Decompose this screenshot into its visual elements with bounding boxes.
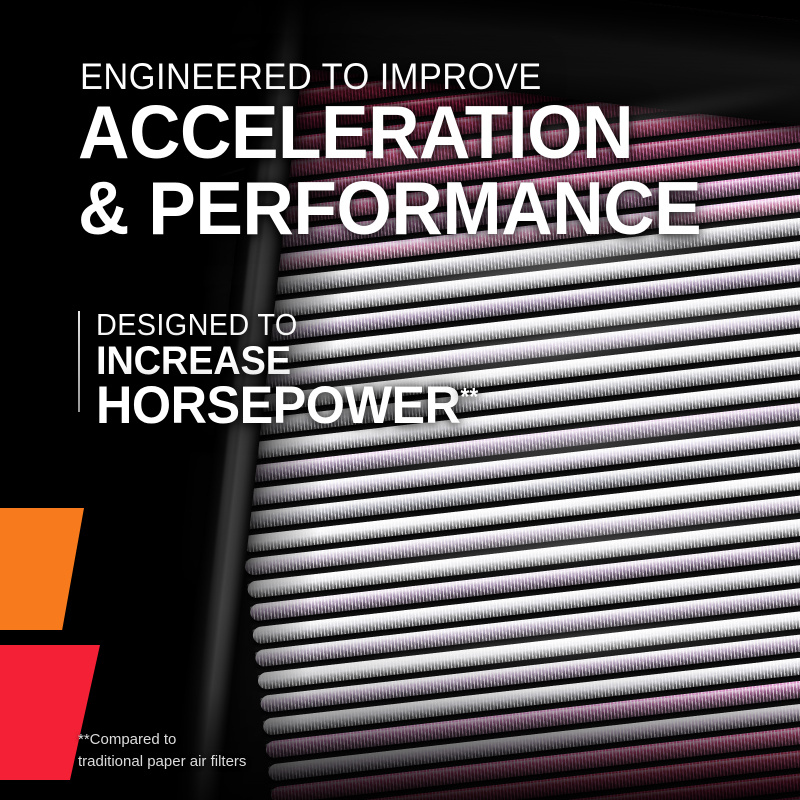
footnote-line-1: **Compared to <box>78 729 246 751</box>
footnote-line-2: traditional paper air filters <box>78 751 246 773</box>
headline-line-2: & PERFORMANCE <box>78 172 701 244</box>
advertisement-banner: ENGINEERED TO IMPROVE ACCELERATION & PER… <box>0 0 800 800</box>
subhead-accent-rule <box>78 311 80 412</box>
subhead-line-2-text: HORSEPOWER <box>96 376 461 435</box>
footnote-text: **Compared to traditional paper air filt… <box>78 729 246 773</box>
headline-line-1: ACCELERATION <box>78 96 633 168</box>
subhead-kicker: DESIGNED TO <box>96 307 298 343</box>
footnote-marker: ** <box>461 383 479 410</box>
subhead-line-2: HORSEPOWER** <box>96 375 478 436</box>
